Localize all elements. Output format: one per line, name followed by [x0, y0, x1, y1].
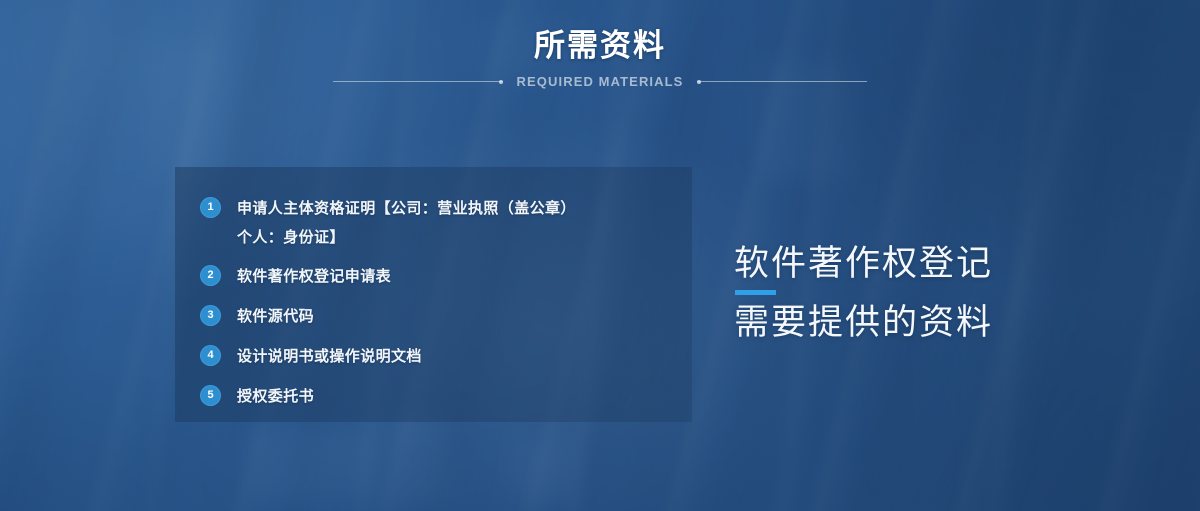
materials-list: 1 申请人主体资格证明【公司：营业执照（盖公章） 个人：身份证】 2 软件著作权…: [175, 167, 692, 411]
decorative-rule-left: [333, 81, 503, 82]
item-number-badge: 5: [200, 385, 221, 406]
item-label-line1: 申请人主体资格证明【公司：营业执照（盖公章）: [237, 200, 576, 217]
list-item: 1 申请人主体资格证明【公司：营业执照（盖公章） 个人：身份证】: [200, 194, 692, 252]
page-subtitle: REQUIRED MATERIALS: [503, 74, 698, 89]
item-label: 申请人主体资格证明【公司：营业执照（盖公章） 个人：身份证】: [237, 194, 576, 252]
item-number-badge: 2: [200, 265, 221, 286]
item-number-badge: 1: [200, 197, 221, 218]
required-materials-banner: 所需资料 REQUIRED MATERIALS 1 申请人主体资格证明【公司：营…: [0, 0, 1200, 511]
materials-panel: 1 申请人主体资格证明【公司：营业执照（盖公章） 个人：身份证】 2 软件著作权…: [175, 167, 692, 422]
decorative-rule-right: [697, 81, 867, 82]
item-number-badge: 3: [200, 305, 221, 326]
page-title: 所需资料: [0, 28, 1200, 64]
banner-header: 所需资料 REQUIRED MATERIALS: [0, 28, 1200, 91]
item-label-line2: 个人：身份证】: [237, 223, 576, 252]
list-item: 2 软件著作权登记申请表: [200, 262, 692, 291]
list-item: 3 软件源代码: [200, 302, 692, 331]
headline-block: 软件著作权登记 需要提供的资料: [734, 243, 1164, 344]
item-label: 软件著作权登记申请表: [237, 262, 391, 291]
item-label: 授权委托书: [237, 382, 314, 411]
list-item: 4 设计说明书或操作说明文档: [200, 342, 692, 371]
item-number-badge: 4: [200, 345, 221, 366]
headline-accent-bar: [735, 290, 776, 295]
headline-line-2: 需要提供的资料: [734, 302, 1164, 343]
item-label: 软件源代码: [237, 302, 314, 331]
item-label: 设计说明书或操作说明文档: [237, 342, 422, 371]
headline-line-1: 软件著作权登记: [734, 243, 1164, 284]
list-item: 5 授权委托书: [200, 382, 692, 411]
subtitle-row: REQUIRED MATERIALS: [0, 73, 1200, 91]
